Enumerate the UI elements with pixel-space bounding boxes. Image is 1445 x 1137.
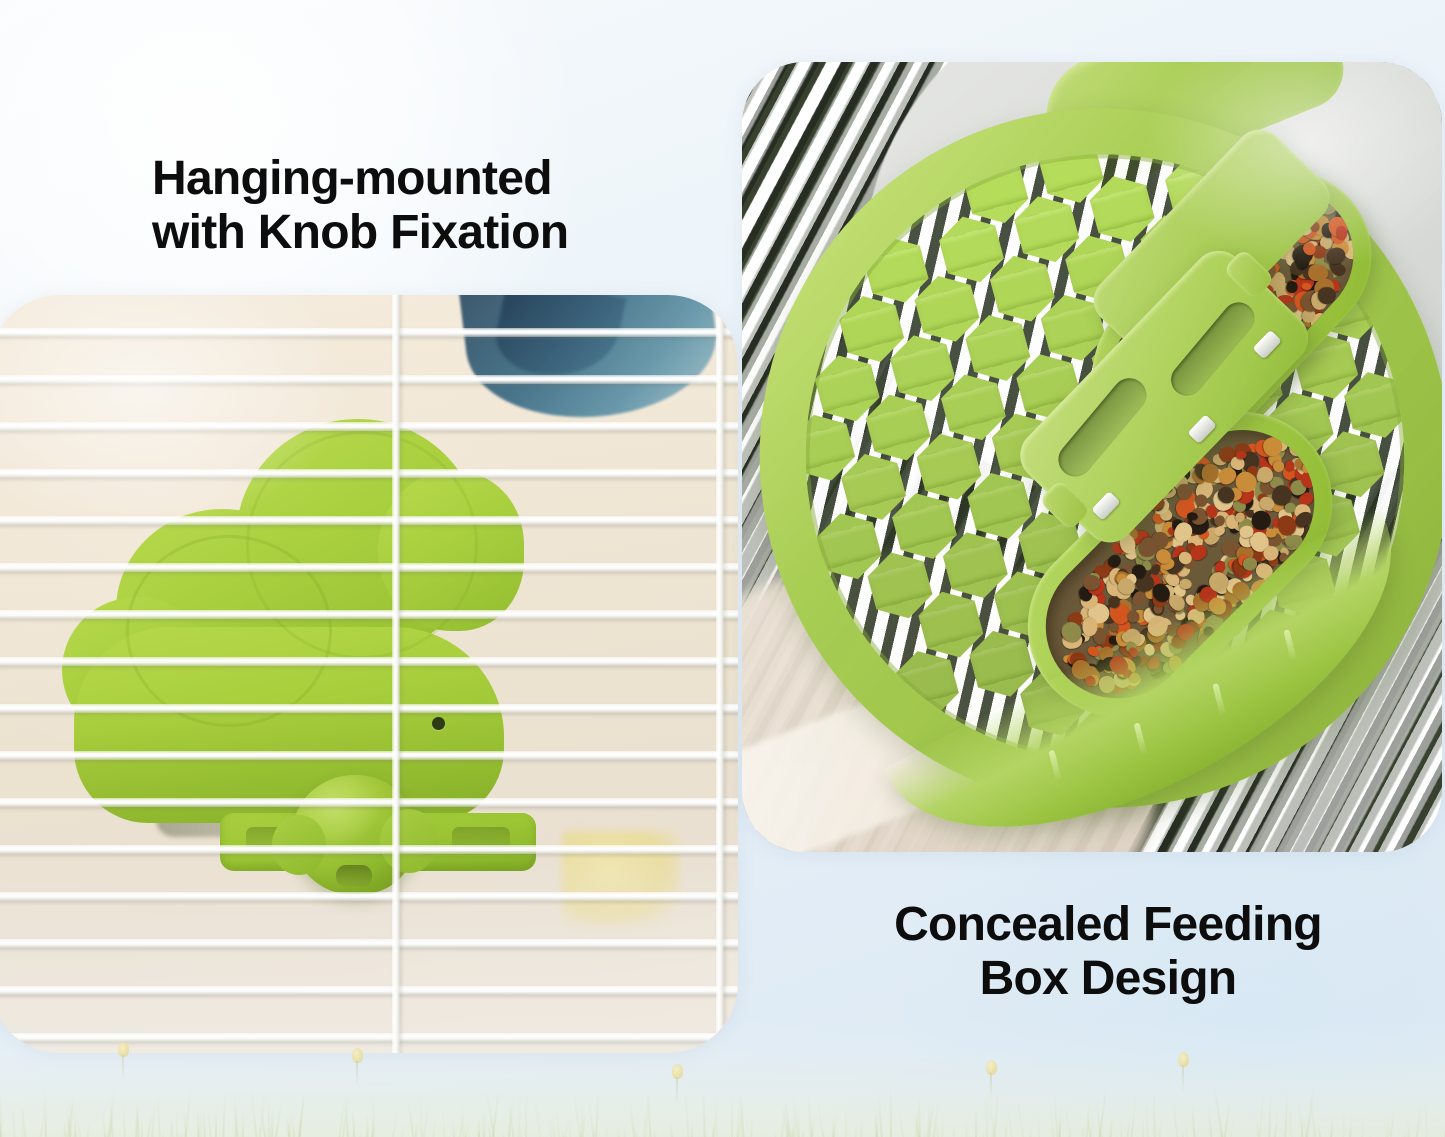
grass-blade	[549, 1116, 552, 1137]
grass-blade	[941, 1112, 945, 1137]
grass-blade	[458, 1104, 466, 1137]
grass-blade	[595, 1093, 599, 1137]
grass-blade	[400, 1121, 405, 1137]
grass-blade	[635, 1130, 638, 1137]
grass-blade	[1142, 1117, 1144, 1137]
grass-blade	[157, 1091, 161, 1137]
grass-blade	[432, 1116, 436, 1137]
grass-blade	[21, 1101, 28, 1137]
grass-blade	[832, 1122, 835, 1137]
grass-blade	[1330, 1116, 1334, 1137]
grass-blade	[1068, 1128, 1071, 1137]
grass-blade	[581, 1113, 586, 1137]
grass-blade	[519, 1118, 522, 1137]
grass-blade	[1311, 1132, 1315, 1137]
grass-blade	[975, 1108, 977, 1137]
grass-blade	[1085, 1102, 1091, 1137]
grass-blade	[1185, 1122, 1190, 1137]
knob-slot	[336, 865, 372, 887]
grass-blade	[1273, 1113, 1279, 1137]
grass-blade	[1303, 1117, 1309, 1137]
grass-blade	[184, 1089, 191, 1137]
grass-blade	[508, 1104, 512, 1137]
grass-blade	[203, 1111, 207, 1137]
grass-blade	[250, 1089, 258, 1137]
grass-blade	[1005, 1121, 1007, 1137]
photo-panel-hanging-mount	[0, 295, 738, 1053]
grass-blade	[1145, 1098, 1149, 1137]
grass-blade	[242, 1113, 244, 1137]
grass-blade	[715, 1098, 719, 1137]
grass-blade	[215, 1110, 217, 1137]
grass-blade	[351, 1110, 356, 1137]
grass-blade	[1256, 1116, 1259, 1137]
grass-blade	[740, 1096, 745, 1137]
grass-blade	[580, 1128, 583, 1137]
grass-blade	[605, 1121, 609, 1137]
knob-wing-left	[272, 815, 326, 875]
grass-blade	[298, 1091, 305, 1137]
photo-cloud-platform-on-cage	[0, 295, 738, 1053]
cloud-platform	[60, 417, 530, 857]
grass-blade	[199, 1097, 202, 1137]
grass-blade	[808, 1099, 812, 1137]
grass-blade	[860, 1119, 863, 1137]
grass-blade	[1058, 1106, 1063, 1137]
grass-blade	[935, 1117, 940, 1137]
grass-blade	[797, 1107, 799, 1137]
grass-blade	[274, 1099, 283, 1137]
grass-blade	[491, 1090, 500, 1137]
product-infographic: Hanging-mounted with Knob Fixation Conce…	[0, 0, 1445, 1137]
grass-blade	[507, 1097, 514, 1137]
grass-blade	[453, 1122, 456, 1137]
grass-blade	[1096, 1098, 1101, 1137]
grass-blade	[177, 1132, 180, 1137]
grass-blade	[371, 1129, 373, 1137]
feature-heading-hanging-mount: Hanging-mounted with Knob Fixation	[152, 152, 568, 260]
grass-blade	[711, 1113, 718, 1137]
grass-blade	[208, 1107, 213, 1137]
bird-seed	[1082, 575, 1100, 591]
grass-blade	[486, 1090, 496, 1137]
grass-blade	[750, 1118, 753, 1137]
grass-blade	[108, 1095, 113, 1137]
meadow-flower	[1178, 1052, 1189, 1067]
grass-blade	[684, 1090, 690, 1137]
grass-blade	[1317, 1124, 1321, 1137]
grass-blade	[86, 1120, 90, 1137]
grass-blade	[928, 1109, 933, 1137]
grass-blade	[633, 1121, 638, 1137]
grass-blade	[464, 1123, 469, 1137]
grass-blade	[702, 1092, 706, 1137]
grass-blade	[391, 1110, 398, 1137]
grass-blade	[261, 1109, 268, 1137]
grass-blade	[176, 1099, 178, 1137]
grass-blade	[1330, 1125, 1333, 1137]
bird-seed	[1318, 286, 1337, 304]
grass-blade	[986, 1091, 988, 1137]
feature-heading-feeding-box: Concealed Feeding Box Design	[868, 898, 1348, 1006]
grass-blade	[285, 1113, 291, 1137]
grass-blade	[623, 1127, 626, 1137]
photo-panel-feeding-box	[742, 62, 1442, 852]
grass-blade	[108, 1090, 115, 1137]
grass-blade	[564, 1118, 569, 1137]
grass-blade	[1207, 1103, 1213, 1137]
grass-blade	[1051, 1114, 1055, 1137]
bird-seed	[1082, 617, 1097, 636]
grass-blade	[1349, 1115, 1353, 1137]
grass-blade	[359, 1131, 362, 1137]
grass-blade	[1081, 1118, 1085, 1137]
grass-blade	[647, 1090, 652, 1137]
bird-seed	[1336, 226, 1347, 241]
photo-honeycomb-feeder	[742, 62, 1442, 852]
grass-blade	[271, 1108, 273, 1137]
grass-blade	[1173, 1100, 1180, 1137]
grass-blade	[135, 1099, 139, 1137]
grass-blade	[1349, 1129, 1351, 1137]
grass-blade	[1368, 1132, 1370, 1137]
grass-blade	[478, 1117, 480, 1137]
grass-blade	[915, 1117, 919, 1137]
grass-blade	[1029, 1126, 1032, 1137]
grass-blade	[1387, 1112, 1389, 1137]
grass-blade	[407, 1101, 414, 1137]
grass-blade	[287, 1108, 293, 1137]
grass-blade	[1153, 1090, 1156, 1137]
grass-blade	[918, 1098, 921, 1137]
grass-blade	[344, 1091, 349, 1137]
grass-blade	[823, 1130, 826, 1137]
grass-blade	[642, 1092, 650, 1137]
grass-blade	[555, 1112, 561, 1137]
grass-blade	[923, 1132, 926, 1137]
grass-blade	[791, 1129, 793, 1137]
grass-blade	[371, 1118, 373, 1137]
grass-blade	[233, 1096, 239, 1137]
grass-blade	[459, 1118, 464, 1137]
grass-blade	[617, 1125, 620, 1137]
grass-blade	[66, 1091, 75, 1137]
grass-blade	[629, 1104, 636, 1137]
grass-blade	[784, 1100, 792, 1137]
grass-blade	[926, 1089, 931, 1137]
grass-blade	[1053, 1095, 1059, 1137]
grass-blade	[1109, 1116, 1113, 1137]
grass-blade	[477, 1131, 480, 1137]
bracket-notch-right	[452, 827, 510, 853]
grass-blade	[122, 1098, 126, 1137]
grass-blade	[914, 1111, 921, 1137]
grass-blade	[0, 1101, 2, 1137]
grass-blade	[791, 1124, 794, 1137]
grass-blade	[833, 1112, 837, 1137]
honeycomb-feeder-body	[742, 62, 1442, 852]
grass-blade	[1407, 1125, 1410, 1137]
grass-blade	[183, 1109, 187, 1137]
grass-blade	[365, 1127, 368, 1137]
meadow-flower	[986, 1060, 997, 1075]
grass-blade	[222, 1092, 226, 1137]
grass-blade	[43, 1088, 47, 1137]
grass-blade	[593, 1126, 595, 1137]
grass-blade	[878, 1093, 883, 1137]
grass-blade	[653, 1128, 656, 1137]
grass-blade	[1229, 1118, 1234, 1137]
grass-blade	[63, 1121, 67, 1137]
grass-blade	[580, 1100, 584, 1137]
grass-blade	[1213, 1088, 1223, 1137]
grass-blade	[1309, 1094, 1317, 1137]
grass-blade	[1119, 1119, 1122, 1137]
grass-blade	[1101, 1130, 1105, 1137]
cloud-vent-hole	[432, 717, 445, 730]
grass-blade	[1064, 1102, 1072, 1137]
grass-blade	[21, 1101, 24, 1137]
grass-blade	[341, 1097, 350, 1137]
grass-blade	[801, 1130, 804, 1137]
grass-blade	[1223, 1102, 1231, 1137]
grass-blade	[39, 1108, 45, 1137]
grass-blade	[736, 1102, 744, 1137]
grass-blade	[1158, 1115, 1163, 1137]
grass-blade	[146, 1113, 153, 1137]
grass-blade	[366, 1114, 369, 1137]
grass-blade	[1297, 1102, 1305, 1137]
grass-blade	[1191, 1104, 1196, 1137]
lip-notch-4	[1283, 629, 1297, 663]
grass-blade	[459, 1105, 467, 1137]
grass-blade	[1300, 1116, 1304, 1137]
grass-blade	[1424, 1091, 1428, 1137]
grass-blade	[791, 1093, 799, 1137]
grass-blade	[502, 1132, 505, 1137]
grass-blade	[913, 1091, 923, 1137]
grass-blade	[135, 1101, 139, 1137]
grass-blade	[1415, 1103, 1422, 1137]
grass-blade	[100, 1105, 106, 1137]
grass-blade	[74, 1103, 76, 1137]
grass-blade	[371, 1108, 375, 1137]
grass-blade	[1130, 1091, 1137, 1137]
grass-blade	[371, 1089, 376, 1137]
lid-clip-left	[1091, 491, 1121, 521]
grass-blade	[780, 1113, 785, 1137]
grass-blade	[103, 1131, 107, 1137]
grass-blade	[1005, 1095, 1014, 1137]
grass-blade	[587, 1094, 595, 1137]
grass-blade	[265, 1124, 269, 1137]
grass-blade	[691, 1121, 693, 1137]
grass-blade	[845, 1109, 847, 1137]
grass-blade	[873, 1102, 878, 1137]
grass-blade	[288, 1117, 292, 1137]
grass-blade	[151, 1101, 156, 1137]
meadow-flower	[672, 1064, 683, 1079]
grass-blade	[953, 1128, 955, 1137]
grass-blade	[669, 1124, 674, 1137]
grass-blade	[802, 1126, 805, 1137]
grass-blade	[712, 1125, 715, 1137]
grass-blade	[1389, 1109, 1395, 1137]
grass-blade	[1383, 1111, 1388, 1137]
bird-seed	[1265, 528, 1276, 538]
grass-blade	[898, 1112, 905, 1137]
grass-blade	[422, 1102, 430, 1137]
grass-blade	[297, 1091, 305, 1137]
grass-blade	[786, 1120, 790, 1137]
grass-blade	[11, 1100, 16, 1137]
grass-blade	[1126, 1113, 1131, 1137]
lid-slot-right	[1165, 296, 1262, 402]
grass-blade	[793, 1106, 796, 1137]
grass-blade	[234, 1107, 238, 1137]
grass-blade	[648, 1127, 650, 1137]
grass-blade	[561, 1129, 565, 1137]
grass-blade	[932, 1107, 938, 1137]
grass-blade	[736, 1098, 741, 1137]
grass-blade	[991, 1129, 994, 1137]
grass-blade	[517, 1097, 522, 1137]
grass-blade	[0, 1091, 2, 1137]
grass-blade	[926, 1097, 935, 1137]
grass-blade	[1268, 1096, 1272, 1137]
grass-blade	[1115, 1133, 1118, 1137]
grass-blade	[197, 1110, 200, 1137]
lid-clip-center	[1187, 414, 1217, 444]
grass-blade	[106, 1122, 111, 1137]
grass-blade	[774, 1130, 777, 1137]
grass-blade	[69, 1103, 73, 1137]
grass-blade	[77, 1118, 82, 1137]
grass-blade	[1305, 1089, 1314, 1137]
grass-blade	[1284, 1091, 1288, 1137]
grass-blade	[534, 1093, 543, 1137]
grass-blade	[442, 1113, 446, 1137]
cloud-seam-top	[246, 431, 478, 659]
grass-blade	[169, 1120, 173, 1137]
grass-blade	[525, 1094, 527, 1137]
grass-blade	[258, 1088, 266, 1137]
grass-blade	[572, 1089, 582, 1137]
grass-blade	[1, 1130, 3, 1137]
grass-blade	[982, 1131, 985, 1137]
grass-blade	[338, 1101, 345, 1137]
grass-blade	[993, 1090, 999, 1137]
grass-blade	[552, 1118, 556, 1137]
grass-blade	[161, 1133, 164, 1137]
grass-blade	[299, 1131, 302, 1137]
grass-blade	[487, 1124, 492, 1137]
grass-blade	[1407, 1115, 1410, 1137]
grass-blade	[832, 1120, 835, 1137]
grass-blade	[180, 1132, 183, 1137]
grass-blade	[1221, 1126, 1225, 1137]
grass-blade	[988, 1090, 996, 1137]
fixation-knob	[292, 775, 416, 895]
grass-blade	[351, 1130, 354, 1137]
grass-blade	[267, 1098, 271, 1137]
grass-blade	[1109, 1122, 1114, 1137]
lip-notch-2	[1134, 722, 1148, 756]
grass-blade	[197, 1130, 199, 1137]
lid-clip-right	[1252, 330, 1282, 360]
grass-blade	[740, 1109, 743, 1137]
grass-blade	[811, 1119, 813, 1137]
grass-blade	[509, 1110, 515, 1137]
grass-blade	[1015, 1094, 1024, 1137]
lip-notch-3	[1212, 683, 1226, 717]
grass-blade	[61, 1129, 64, 1137]
grass-blade	[482, 1116, 484, 1137]
grass-blade	[466, 1123, 471, 1137]
grass-blade	[876, 1100, 878, 1137]
grass-blade	[65, 1100, 72, 1137]
grass-blade	[1087, 1110, 1093, 1137]
grass-blade	[1037, 1116, 1039, 1137]
lip-notch-1	[1048, 750, 1062, 784]
grass-blade	[72, 1119, 78, 1137]
grass-blade	[1090, 1109, 1094, 1137]
grass-blade	[478, 1123, 481, 1137]
grass-blade	[1059, 1119, 1062, 1137]
grass-blade	[965, 1123, 968, 1137]
grass-blade	[569, 1124, 571, 1137]
grass-blade	[483, 1127, 486, 1137]
grass-blade	[1342, 1109, 1345, 1137]
grass-blade	[817, 1102, 825, 1137]
knob-wing-right	[380, 809, 438, 873]
grass-blade	[653, 1126, 658, 1137]
grass-blade	[854, 1123, 858, 1137]
bird-seed	[1289, 439, 1307, 457]
grass-blade	[1403, 1128, 1407, 1137]
grass-blade	[1258, 1094, 1264, 1137]
grass-blade	[1361, 1119, 1364, 1137]
grass-blade	[292, 1117, 295, 1137]
grass-blade	[75, 1130, 77, 1137]
grass-blade	[889, 1087, 891, 1137]
grass-blade	[141, 1120, 143, 1137]
grass-blade	[1288, 1104, 1293, 1137]
grass-blade	[483, 1112, 486, 1137]
grass-blade	[782, 1106, 789, 1137]
grass-blade	[644, 1108, 649, 1137]
grass-blade	[731, 1097, 733, 1137]
grass-blade	[1098, 1089, 1107, 1137]
grass-blade	[419, 1093, 423, 1137]
grass-blade	[240, 1125, 244, 1137]
grass-blade	[170, 1116, 174, 1137]
grass-blade	[792, 1126, 796, 1137]
grass-blade	[1219, 1131, 1222, 1137]
grass-blade	[875, 1125, 879, 1137]
grass-blade	[414, 1121, 418, 1137]
grass-blade	[345, 1118, 350, 1137]
grass-blade	[1181, 1129, 1185, 1137]
